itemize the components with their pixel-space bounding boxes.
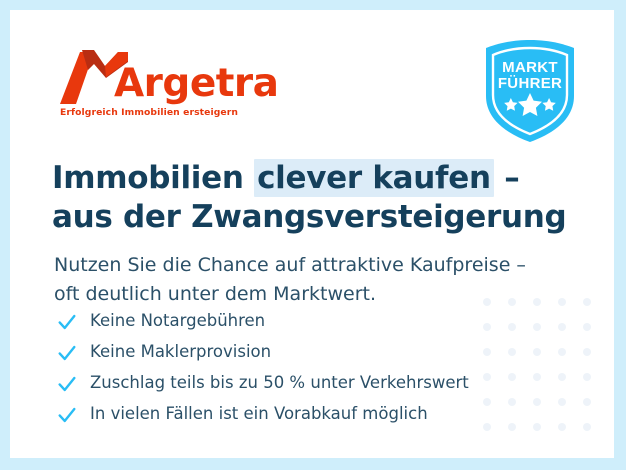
decorative-dot [583,398,591,406]
decorative-dot [583,423,591,431]
logo-wordmark: Argetra [114,64,278,103]
check-icon [56,342,78,364]
decorative-dot [533,423,541,431]
list-item: Keine Maklerprovision [56,337,516,368]
decorative-dot [533,348,541,356]
decorative-dot [558,373,566,381]
decorative-dot [558,323,566,331]
headline-line2: aus der Zwangsversteigerung [52,198,572,238]
decorative-dot [558,348,566,356]
list-item-label: Keine Maklerprovision [90,344,271,361]
shield-icon [482,38,578,144]
decorative-dot [558,423,566,431]
decorative-dot [533,323,541,331]
headline-line1-before: Immobilien [52,160,254,196]
promo-banner: Argetra Erfolgreich Immobilien ersteiger… [0,0,626,470]
check-icon [56,404,78,426]
list-item: Keine Notargebühren [56,306,516,337]
check-icon [56,311,78,333]
subheadline-line-1: Nutzen Sie die Chance auf attraktive Kau… [54,251,574,280]
page-title: Immobilien clever kaufen – aus der Zwang… [52,159,572,238]
banner-card: Argetra Erfolgreich Immobilien ersteiger… [10,10,614,458]
headline-highlight: clever kaufen [254,159,494,197]
subheadline: Nutzen Sie die Chance auf attraktive Kau… [54,251,574,310]
market-leader-badge: MARKT FÜHRER [482,38,578,144]
decorative-dot [533,373,541,381]
decorative-dot [533,398,541,406]
list-item: In vielen Fällen ist ein Vorabkauf mögli… [56,399,516,430]
decorative-dot [583,298,591,306]
decorative-dot [583,373,591,381]
check-icon [56,373,78,395]
decorative-dot [583,323,591,331]
list-item: Zuschlag teils bis zu 50 % unter Verkehr… [56,368,516,399]
decorative-dot [583,348,591,356]
logo-tagline: Erfolgreich Immobilien ersteigern [60,107,238,118]
list-item-label: In vielen Fällen ist ein Vorabkauf mögli… [90,406,428,423]
headline-line1-after: – [494,160,520,196]
list-item-label: Keine Notargebühren [90,313,265,330]
list-item-label: Zuschlag teils bis zu 50 % unter Verkehr… [90,375,469,392]
benefits-list: Keine Notargebühren Keine Maklerprovisio… [56,306,516,430]
argetra-logo: Argetra Erfolgreich Immobilien ersteiger… [58,48,288,120]
decorative-dot [558,398,566,406]
